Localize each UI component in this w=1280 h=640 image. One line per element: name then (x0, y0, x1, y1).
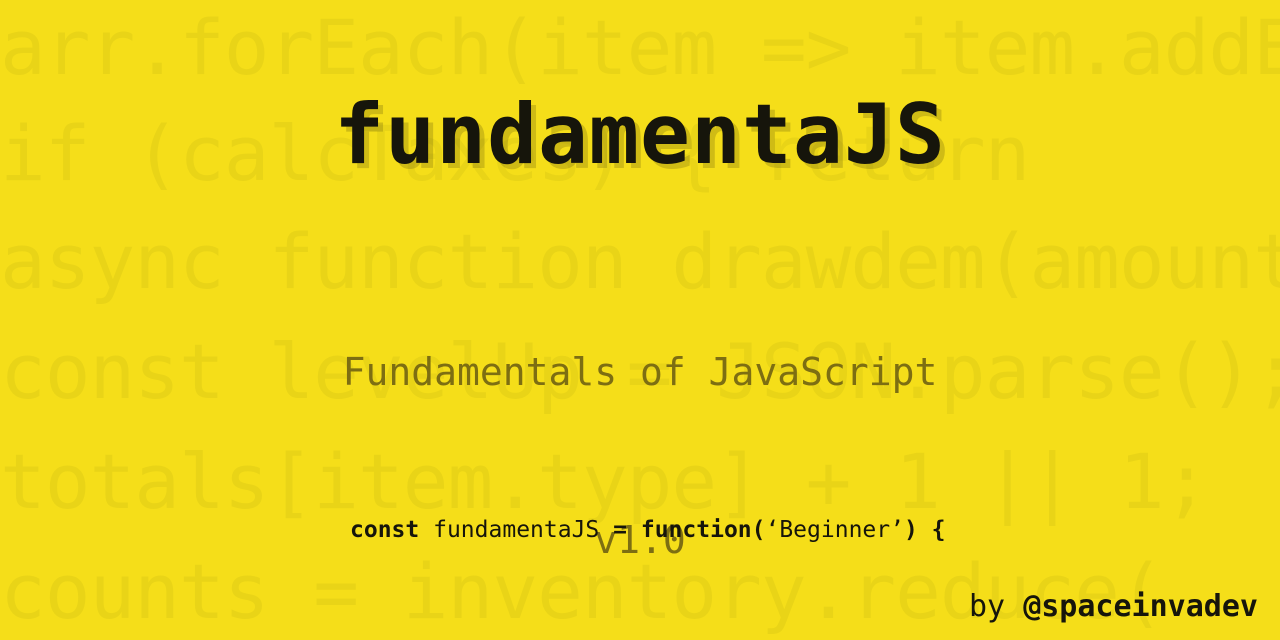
code-space-2 (599, 517, 613, 543)
code-open-brace: ) { (904, 517, 946, 543)
byline: by @spaceinvadev (969, 589, 1258, 624)
keyword-const: const (350, 517, 419, 543)
code-space-1 (419, 517, 433, 543)
author-handle[interactable]: @spaceinvadev (1023, 589, 1258, 624)
code-line-1: const fundamentaJS = function(‘Beginner’… (350, 506, 946, 554)
page-title: fundamentaJS (0, 86, 1280, 183)
byline-prefix: by (969, 589, 1005, 624)
byline-space (1005, 589, 1023, 624)
subtitle-line: Fundamentals of JavaScript (0, 344, 1280, 400)
string-argument-beginner: ‘Beginner’ (765, 517, 903, 543)
keyword-function-open: function( (641, 517, 766, 543)
code-snippet: const fundamentaJS = function(‘Beginner’… (350, 410, 946, 640)
code-space-3 (627, 517, 641, 543)
operator-equals: = (613, 517, 627, 543)
slide-canvas: arr.forEach(item => item.addE if (calcTa… (0, 0, 1280, 640)
slide-content: fundamentaJS Fundamentals of JavaScript … (0, 0, 1280, 640)
identifier-fundamentajs: fundamentaJS (433, 517, 599, 543)
